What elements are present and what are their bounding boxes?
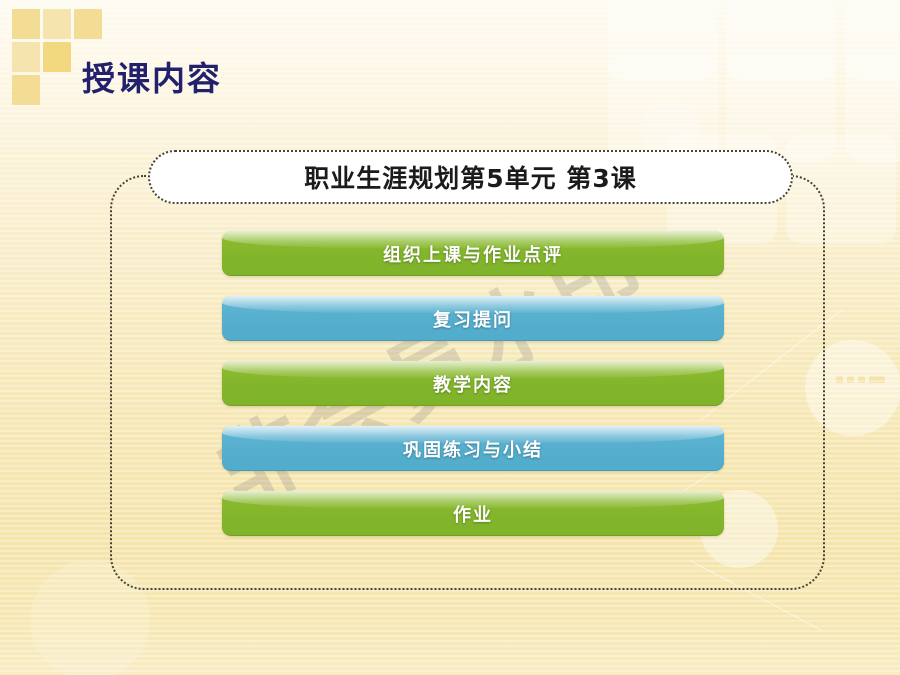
decorative-dot-row xyxy=(836,376,885,383)
decorative-rounded-square xyxy=(845,52,900,162)
page-title: 授课内容 xyxy=(82,52,222,100)
logo-block-r3c1 xyxy=(12,75,40,105)
agenda-button-label: 作业 xyxy=(453,501,493,527)
lesson-heading-pill: 职业生涯规划第5单元 第3课 xyxy=(148,150,793,204)
agenda-button-label: 教学内容 xyxy=(433,371,513,397)
decorative-rounded-square xyxy=(726,0,836,80)
agenda-button-review-questions[interactable]: 复习提问 xyxy=(222,296,724,341)
agenda-button-organize-class[interactable]: 组织上课与作业点评 xyxy=(222,231,724,276)
agenda-button-teaching-content[interactable]: 教学内容 xyxy=(222,361,724,406)
decorative-rounded-square xyxy=(726,52,836,162)
agenda-button-label: 组织上课与作业点评 xyxy=(383,241,563,267)
agenda-button-list: 组织上课与作业点评 复习提问 教学内容 巩固练习与小结 作业 xyxy=(222,231,724,536)
decorative-rounded-square xyxy=(845,0,900,80)
logo-block-r2c1 xyxy=(12,42,40,72)
logo-block-r2c2 xyxy=(43,42,71,72)
decorative-rounded-square xyxy=(608,0,718,80)
slide-canvas: 授课内容 非会员水印 职业生涯规划第5单元 第3课 组织上课与作业点评 复习提问… xyxy=(0,0,900,675)
decorative-rounded-square xyxy=(608,52,718,162)
agenda-button-label: 巩固练习与小结 xyxy=(403,436,543,462)
logo-block-r1c3 xyxy=(74,9,102,39)
agenda-button-label: 复习提问 xyxy=(433,306,513,332)
logo-block-r3c2 xyxy=(43,75,71,105)
logo-block-r1c2 xyxy=(43,9,71,39)
agenda-button-practice-summary[interactable]: 巩固练习与小结 xyxy=(222,426,724,471)
agenda-button-homework[interactable]: 作业 xyxy=(222,491,724,536)
logo-block-r1c1 xyxy=(12,9,40,39)
lesson-heading-text: 职业生涯规划第5单元 第3课 xyxy=(304,159,637,195)
